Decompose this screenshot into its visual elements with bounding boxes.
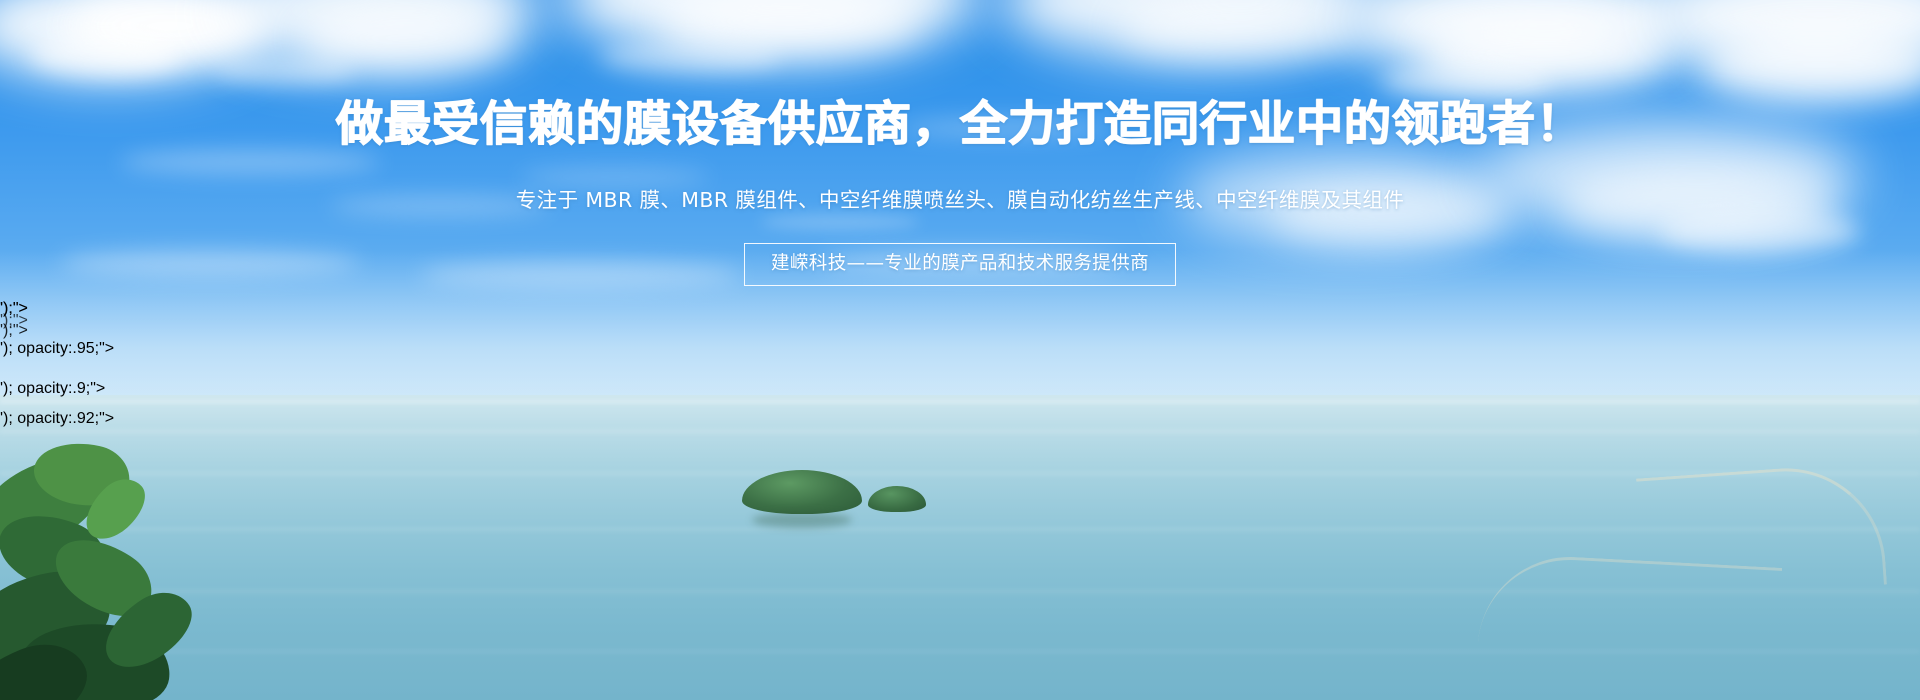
mountain-road-lower bbox=[1478, 552, 1782, 661]
foreground-foliage bbox=[0, 425, 240, 700]
shoreline-right: '); opacity:.92;"> bbox=[0, 410, 1920, 700]
hero-banner: ');"> ');"> ');"> '); opacity:.95;"> ');… bbox=[0, 0, 1920, 700]
